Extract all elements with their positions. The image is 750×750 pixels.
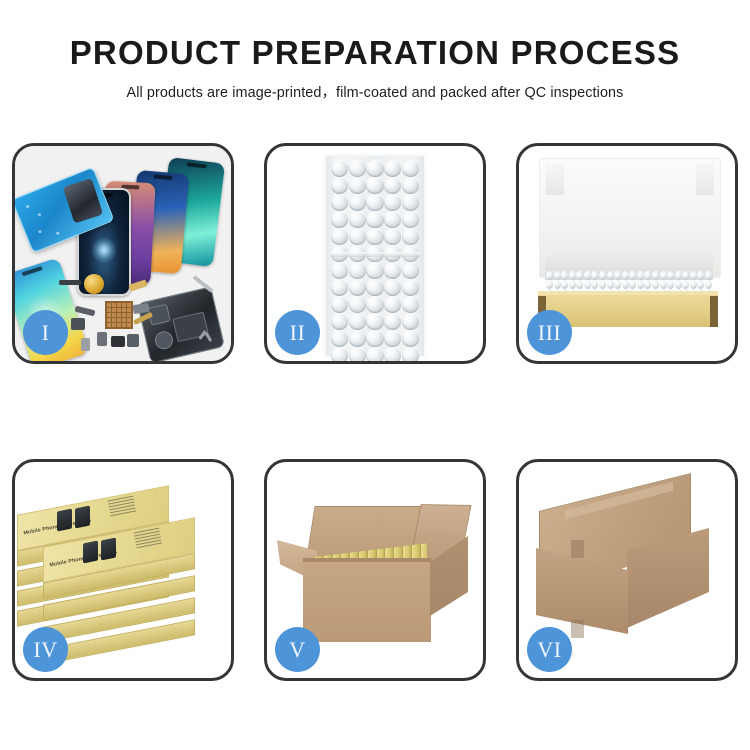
bubble [690,280,697,289]
bubble [366,211,383,228]
bubble [349,194,366,211]
bubble [667,271,674,280]
screen-glow [91,237,117,263]
bubble [629,271,636,280]
bubble [561,280,568,289]
page-title: PRODUCT PREPARATION PROCESS [0,0,750,72]
bubble [607,271,614,280]
bubble [644,280,651,289]
bubble [705,271,712,280]
product-preparation-infographic: PRODUCT PREPARATION PROCESS All products… [0,0,750,750]
bubble [331,177,348,194]
bubble-wrap-pouch [326,156,424,356]
bubble [349,296,366,313]
bubble [331,347,348,361]
phone-notch [153,174,172,180]
bubble [402,160,419,177]
bubble [331,228,348,245]
bubble [366,160,383,177]
bubble [584,280,591,289]
bubble [546,271,553,280]
flex-cable-part [97,332,107,346]
bubble [402,211,419,228]
bubble [384,228,401,245]
bubble [629,280,636,289]
bubble [599,280,606,289]
process-step-panel-3: III [516,143,738,364]
bubble [591,280,598,289]
bubble [554,280,561,289]
flex-cable-part [71,318,85,330]
phone-notch [186,162,206,168]
header: PRODUCT PREPARATION PROCESS All products… [0,0,750,102]
bubble [569,271,576,280]
process-step-panel-5: V [264,459,486,681]
step-badge-4: IV [23,627,68,672]
bubble [349,330,366,347]
bubble [546,280,553,289]
bubble [366,262,383,279]
bubble [622,280,629,289]
box-label-phone-image [83,541,98,564]
bubble [349,211,366,228]
bubble [349,347,366,361]
bubble [384,211,401,228]
flex-cable-part [59,280,81,285]
bubble [697,280,704,289]
step-badge-1: I [23,310,68,355]
bubble [384,330,401,347]
bubble [660,271,667,280]
bubble [402,177,419,194]
box-corner-right [710,296,718,327]
step-badge-5: V [275,627,320,672]
bubble [637,271,644,280]
bubble [667,280,674,289]
bubble [384,347,401,361]
bubble [690,271,697,280]
coil-pad [153,329,175,351]
bubble [366,347,383,361]
bubble [366,313,383,330]
bubble [331,160,348,177]
bubble [652,271,659,280]
bubble [366,296,383,313]
carton-flap-tab [571,620,584,638]
bubble [331,279,348,296]
bubble [607,280,614,289]
box-label-phone-image [101,538,116,561]
bubble [402,194,419,211]
bubble [331,313,348,330]
bubble [622,271,629,280]
bubble [637,280,644,289]
step-badge-2: II [275,310,320,355]
bubble [366,330,383,347]
gold-coil-part [84,274,104,294]
bubble [366,228,383,245]
carton-front-face [303,562,431,642]
bubble [402,279,419,296]
step-badge-6: VI [527,627,572,672]
bubble [402,347,419,361]
bubble [697,271,704,280]
bubble [384,313,401,330]
phone-notch [22,266,43,276]
bubble [366,194,383,211]
bubble [349,262,366,279]
bubble [349,177,366,194]
bubble [599,271,606,280]
bubble [366,177,383,194]
process-step-panel-6: VI [516,459,738,681]
bubble [682,271,689,280]
bubble [554,271,561,280]
bubble [331,194,348,211]
battery-bay [172,312,209,343]
box-label-phone-image [57,509,72,532]
bubble [331,330,348,347]
lid-flap-left [546,163,564,195]
bubble [349,279,366,296]
bubble [331,296,348,313]
bubble [349,313,366,330]
process-step-panel-1: I [12,143,234,364]
carton-flap-tab [571,540,584,558]
bubble [652,280,659,289]
bubble [644,271,651,280]
bubble [384,262,401,279]
page-subtitle: All products are image-printed，film-coat… [0,72,750,102]
bubble [705,280,712,289]
bubble [384,296,401,313]
bubble [384,177,401,194]
lid-flap-right [696,163,714,195]
process-step-panel-4: Mobile Phone Spare Parts Mobile Phone Sp… [12,459,234,681]
flex-cable-part [111,336,125,347]
process-step-panel-2: II [264,143,486,364]
bubble [660,280,667,289]
bubble [682,280,689,289]
bubble [675,280,682,289]
bubble [402,262,419,279]
bubble [349,160,366,177]
bubble [584,271,591,280]
bubble [384,279,401,296]
contact-grid-part [105,301,133,329]
bubble [402,313,419,330]
bubble [331,211,348,228]
bubble [569,280,576,289]
bubble [331,262,348,279]
bubble [384,160,401,177]
box-label-phone-image [75,506,90,529]
flex-cable-part [81,338,90,351]
flex-cable-part [127,334,139,347]
bubble [561,271,568,280]
step-badge-3: III [527,310,572,355]
bubble [384,194,401,211]
bubble [675,271,682,280]
bubble [576,280,583,289]
bubble [349,228,366,245]
bubble [402,228,419,245]
pouch-seam [330,252,420,257]
bubble [402,296,419,313]
bubble [402,330,419,347]
bubble [591,271,598,280]
bubble [614,271,621,280]
bubble [576,271,583,280]
bubble [366,279,383,296]
process-step-grid: I II [12,143,738,682]
bubble [614,280,621,289]
